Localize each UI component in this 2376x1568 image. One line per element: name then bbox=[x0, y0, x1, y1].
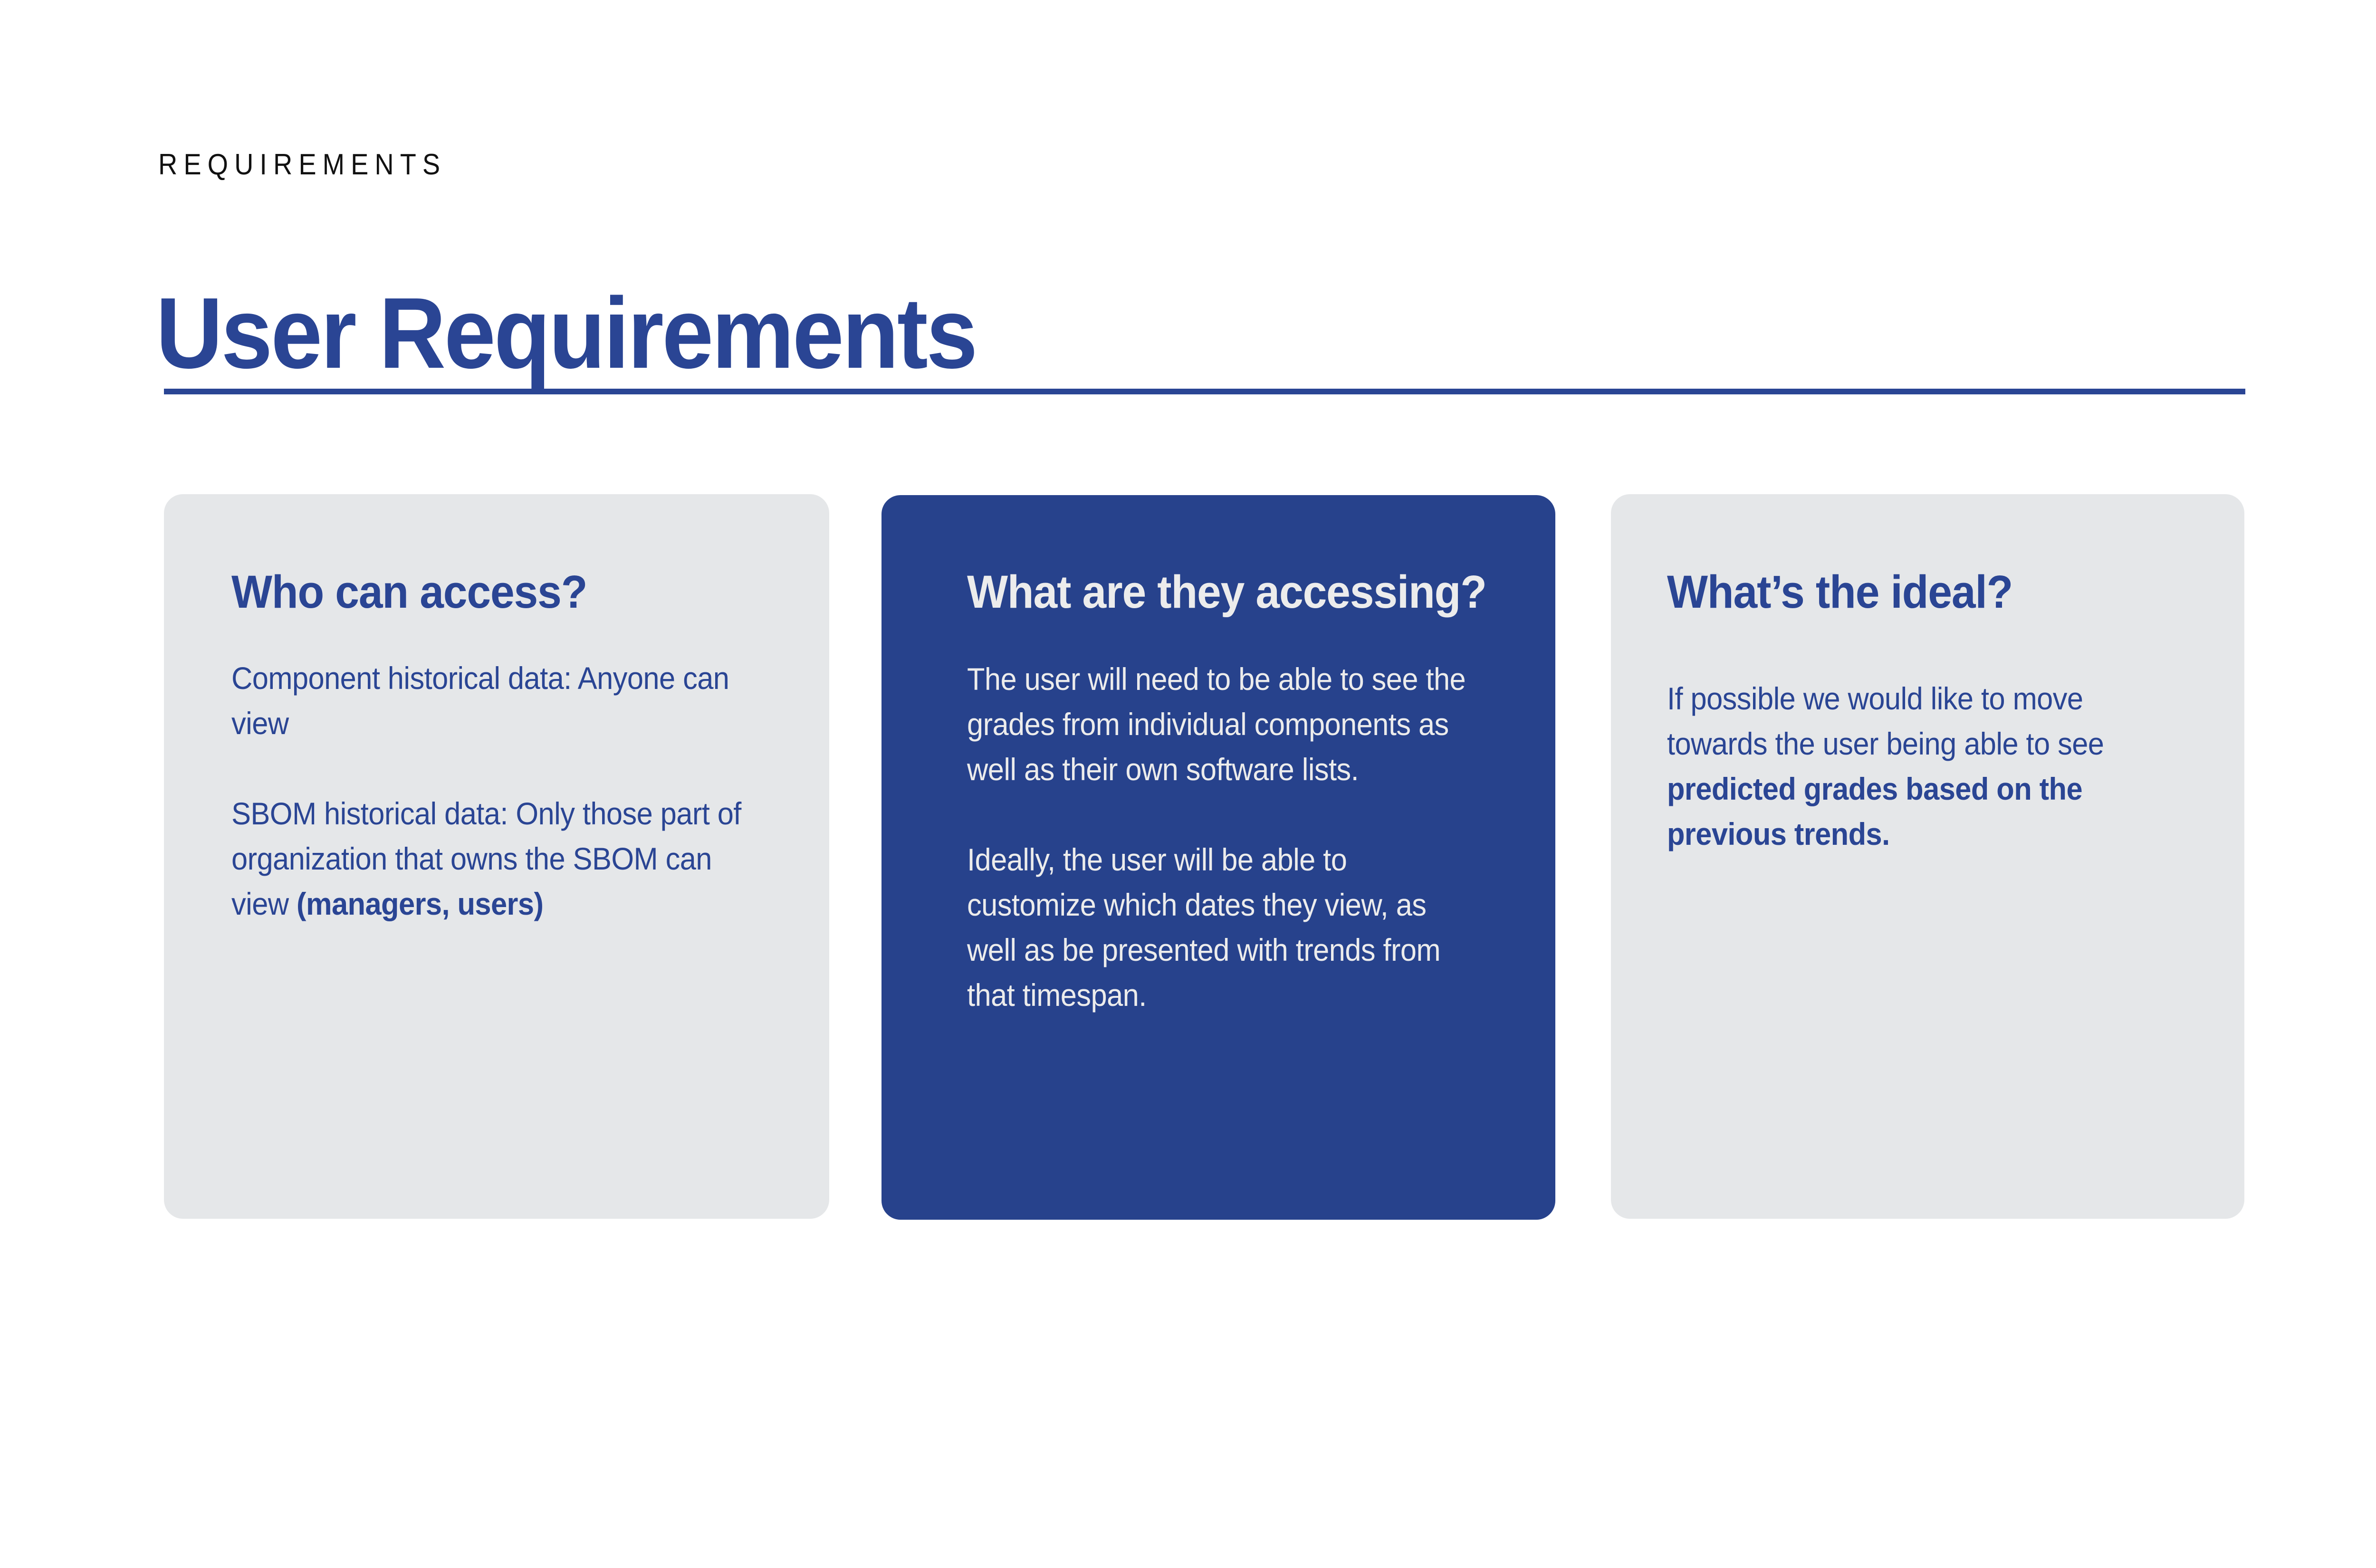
card-paragraph: Component historical data: Anyone can vi… bbox=[231, 656, 752, 746]
card-paragraph: If possible we would like to move toward… bbox=[1667, 676, 2173, 857]
card-content: What are they accessing? The user will n… bbox=[881, 495, 1555, 1220]
card-paragraph: The user will need to be able to see the… bbox=[967, 657, 1483, 792]
card-content: What’s the ideal? If possible we would l… bbox=[1611, 494, 2244, 1219]
card-heading: Who can access? bbox=[231, 562, 757, 622]
requirement-card-what-are-they-accessing: What are they accessing? The user will n… bbox=[881, 495, 1555, 1220]
card-heading: What are they accessing? bbox=[967, 562, 1489, 622]
requirement-card-who-can-access: Who can access? Component historical dat… bbox=[164, 494, 829, 1219]
requirement-card-group: Who can access? Component historical dat… bbox=[0, 0, 2376, 1568]
card-content: Who can access? Component historical dat… bbox=[164, 494, 829, 1219]
card-paragraph: Ideally, the user will be able to custom… bbox=[967, 837, 1483, 1018]
card-paragraph: SBOM historical data: Only those part of… bbox=[231, 791, 752, 927]
requirement-card-whats-the-ideal: What’s the ideal? If possible we would l… bbox=[1611, 494, 2244, 1219]
slide-root: REQUIREMENTS User Requirements Who can a… bbox=[0, 0, 2376, 1568]
card-heading: What’s the ideal? bbox=[1667, 562, 2178, 622]
